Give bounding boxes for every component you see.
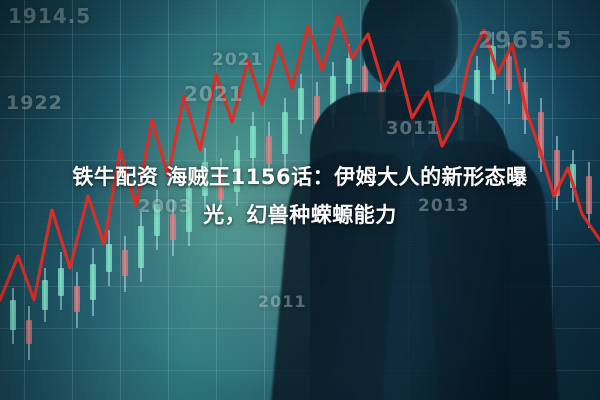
year-watermark: 2021 (212, 50, 263, 70)
news-thumbnail-image: 1914.52965.52021202119223011200320132011… (0, 0, 600, 400)
year-watermark: 1914.5 (8, 4, 91, 28)
year-watermark: 2021 (184, 82, 244, 106)
year-watermark: 3011 (386, 118, 440, 139)
year-watermark: 2965.5 (478, 28, 573, 54)
year-watermark: 2011 (258, 292, 307, 311)
caption-line-2: 光，幻兽种蝾螈能力 (14, 196, 586, 234)
caption-overlay: 铁牛配资 海贼王1156话：伊姆大人的新形态曝 光，幻兽种蝾螈能力 (0, 158, 600, 234)
caption-line-1: 铁牛配资 海贼王1156话：伊姆大人的新形态曝 (14, 158, 586, 196)
year-watermark: 1922 (6, 92, 63, 114)
